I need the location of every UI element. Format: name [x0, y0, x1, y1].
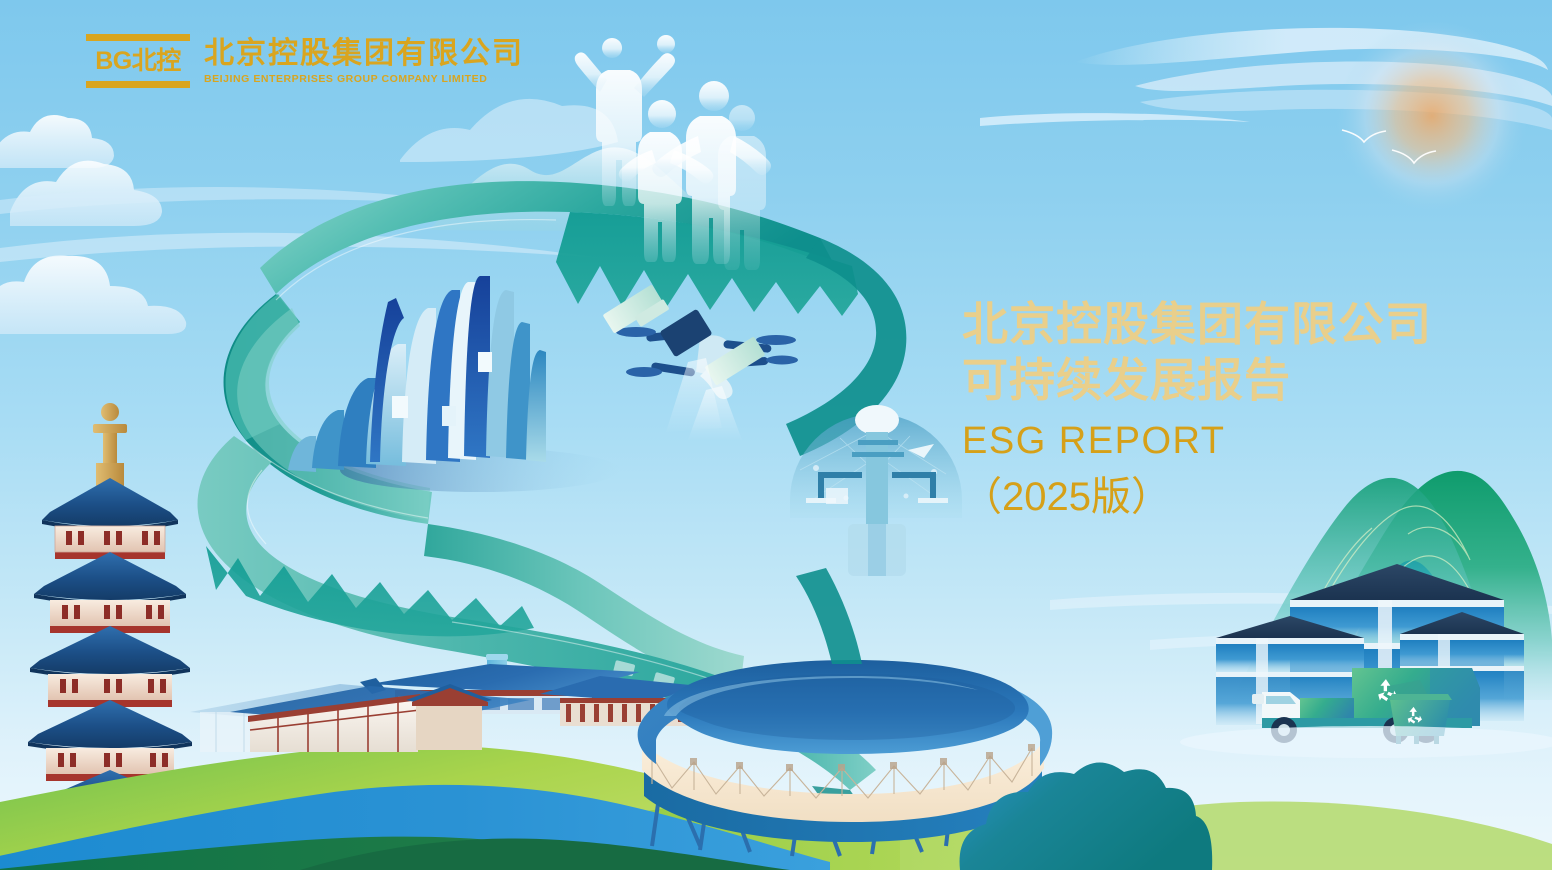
logo-company-cn: 北京控股集团有限公司 [204, 37, 524, 71]
title-esg-report: ESG REPORT [962, 414, 1432, 468]
esg-report-cover: BG北控 北京控股集团有限公司 BEIJING ENTERPRISES GROU… [0, 0, 1552, 870]
logo-wordmark: 北京控股集团有限公司 BEIJING ENTERPRISES GROUP COM… [204, 37, 524, 87]
logo-mark-text: BG北控 [86, 48, 190, 74]
title-edition: （2025版） [962, 470, 1432, 524]
logo-company-en: BEIJING ENTERPRISES GROUP COMPANY LIMITE… [204, 72, 524, 87]
logo-mark: BG北控 [86, 34, 190, 88]
logo-bar-bottom [86, 81, 190, 88]
title-line-2: 可持续发展报告 [962, 352, 1432, 408]
company-logo[interactable]: BG北控 北京控股集团有限公司 BEIJING ENTERPRISES GROU… [86, 34, 524, 88]
logo-bar-top [86, 34, 190, 41]
title-line-1: 北京控股集团有限公司 [962, 296, 1432, 352]
report-title-block: 北京控股集团有限公司 可持续发展报告 ESG REPORT （2025版） [962, 296, 1432, 524]
